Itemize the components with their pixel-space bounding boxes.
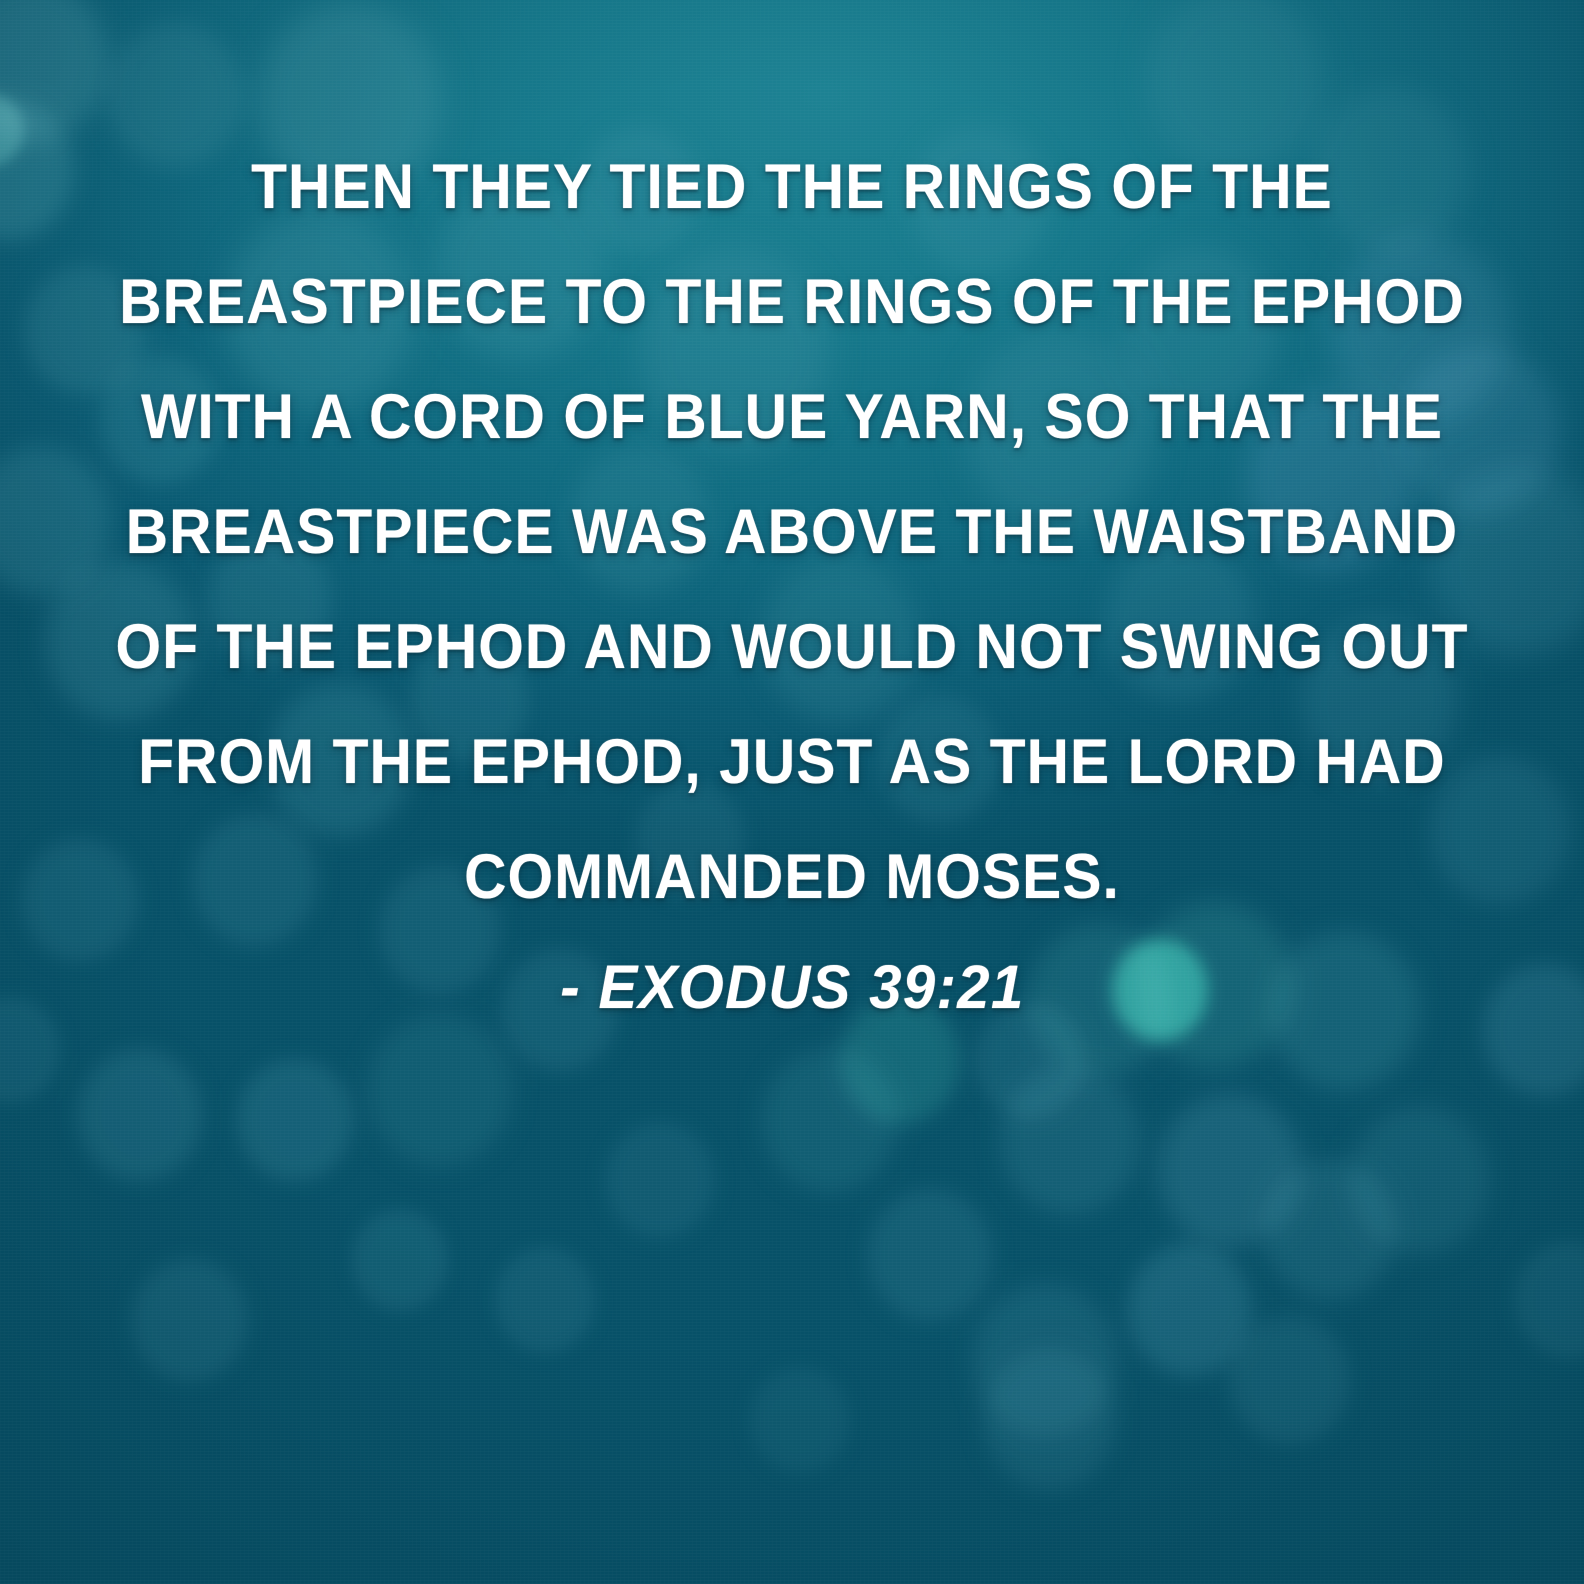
verse-image-canvas: Then they tied the rings of the breastpi… [0, 0, 1584, 1584]
verse-line-3: with a cord of blue yarn, so that the [55, 360, 1528, 475]
citation-text: - Exodus 39:21 [560, 952, 1024, 1022]
verse-line-2: breastpiece to the rings of the ephod [55, 245, 1528, 360]
verse-line-5: of the ephod and would not swing out [55, 590, 1528, 705]
verse-text-block: Then they tied the rings of the breastpi… [0, 0, 1584, 935]
verse-line-1: Then they tied the rings of the [55, 130, 1528, 245]
verse-line-7: commanded Moses. [55, 820, 1528, 935]
verse-line-6: from the ephod, just as the LORD had [55, 705, 1528, 820]
verse-line-4: breastpiece was above the waistband [55, 475, 1528, 590]
verse-citation: - Exodus 39:21 [0, 952, 1584, 1022]
